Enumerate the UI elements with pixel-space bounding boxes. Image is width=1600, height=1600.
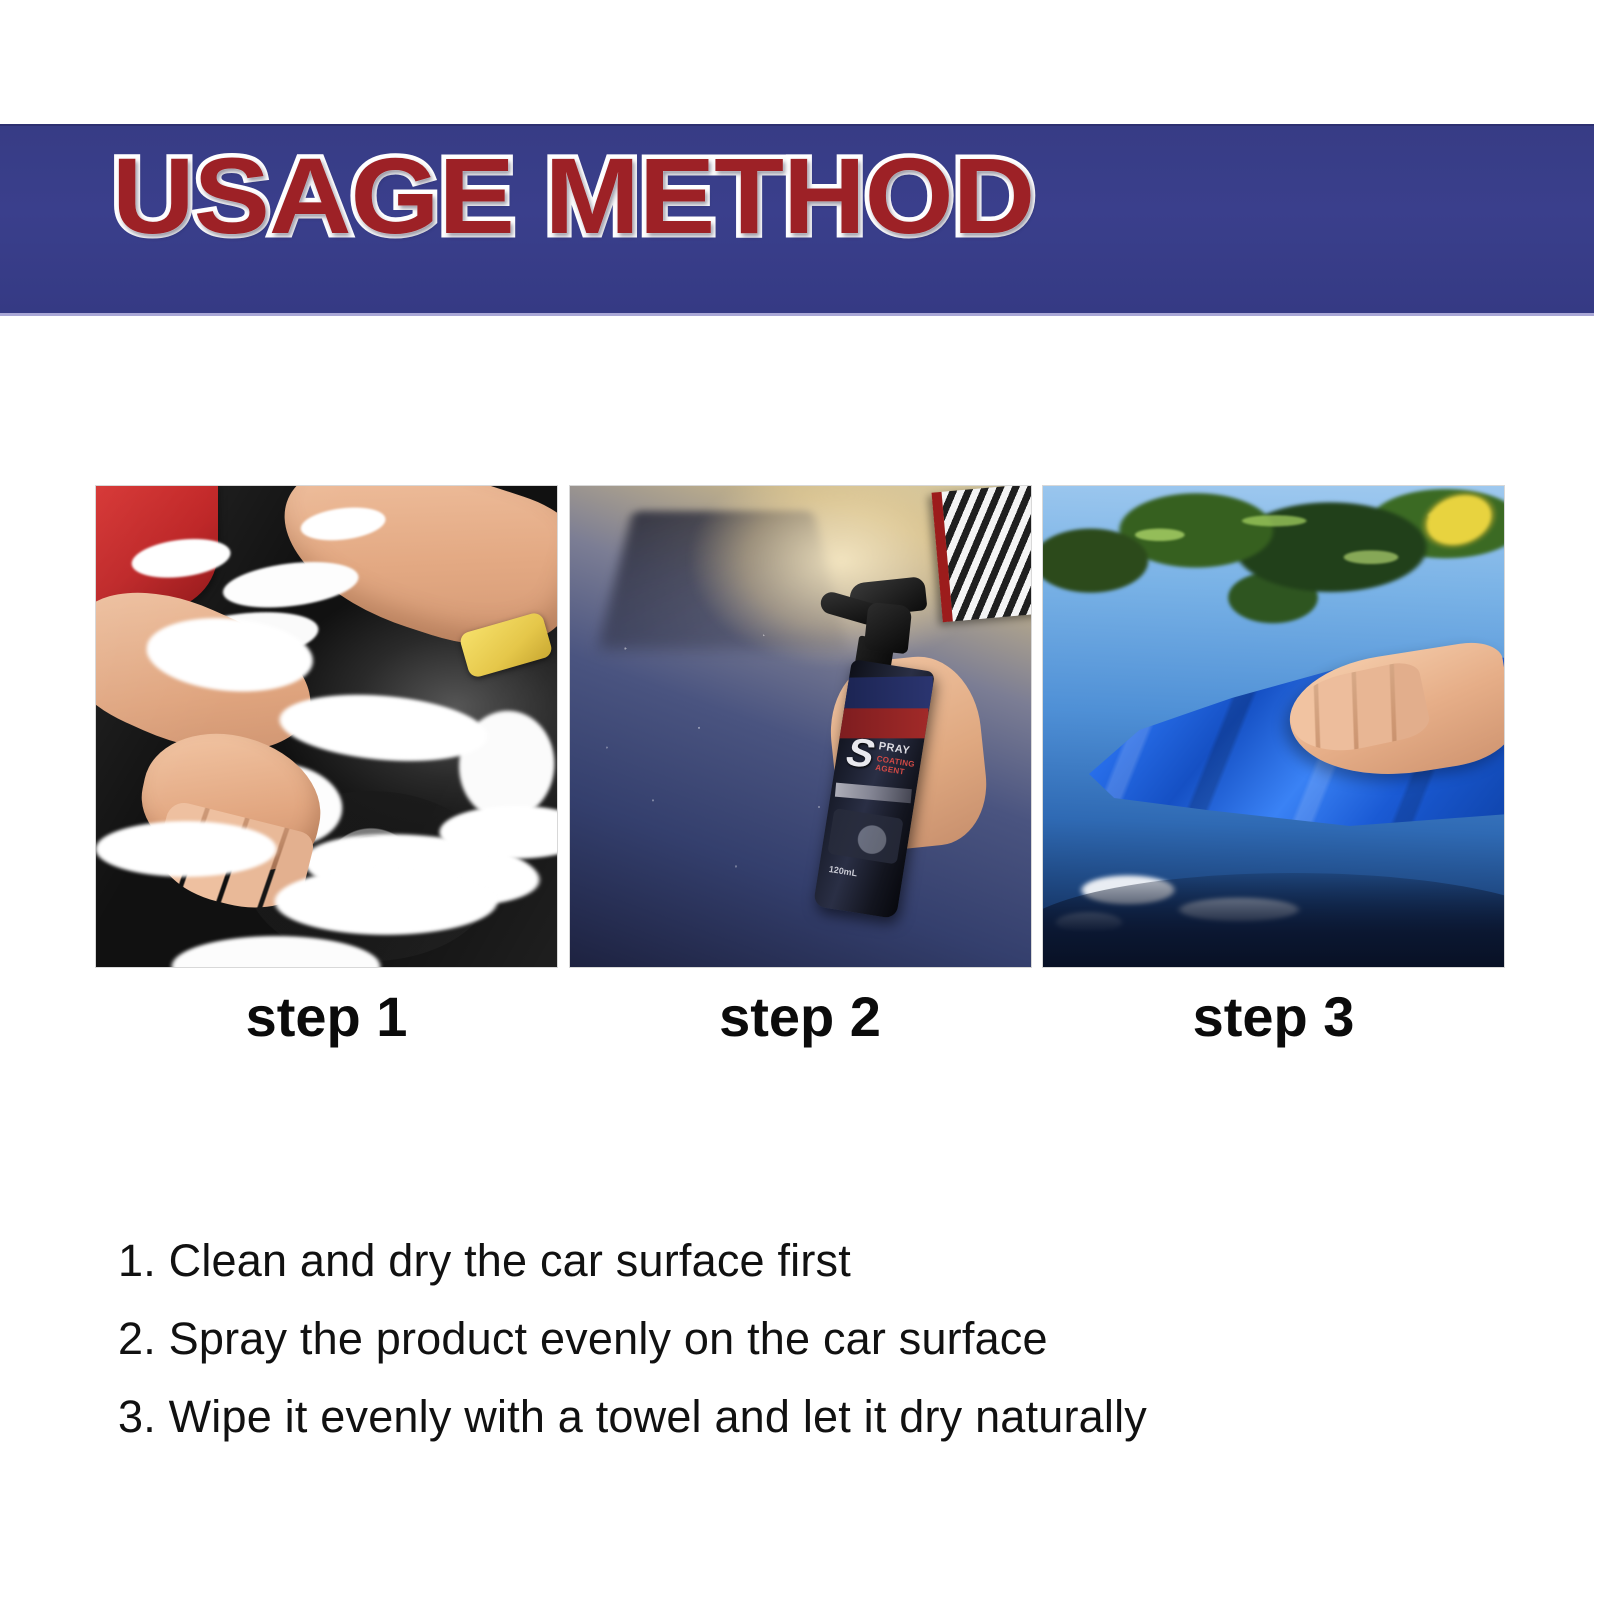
step-image-1 [95,485,558,968]
step-images-row: S PRAY COATING AGENT 120mL [95,485,1505,968]
step-image-2: S PRAY COATING AGENT 120mL [569,485,1032,968]
step-caption-2: step 2 [569,986,1032,1048]
step-caption-3: step 3 [1042,986,1505,1048]
spray-trigger-head [820,578,924,654]
bottle-brand-initial: S [840,732,880,775]
instruction-item-3: 3. Wipe it evenly with a towel and let i… [118,1394,1478,1439]
step-image-3 [1042,485,1505,968]
label-graphic [827,808,903,864]
label-band [834,783,911,804]
trigger-body [863,602,912,654]
instruction-item-1: 1. Clean and dry the car surface first [118,1238,1478,1283]
panel-gloss-overlay [96,486,557,967]
step-caption-1: step 1 [95,986,558,1048]
spray-bottle-illustration: S PRAY COATING AGENT 120mL [570,486,1031,967]
car-grille [931,486,1030,622]
header-banner: USAGE METHOD [0,124,1594,316]
instruction-item-2: 2. Spray the product evenly on the car s… [118,1316,1478,1361]
bottle-volume: 120mL [828,864,858,878]
label-stripe-navy [840,676,933,712]
instruction-list: 1. Clean and dry the car surface first 2… [118,1238,1478,1472]
step-captions-row: step 1 step 2 step 3 [95,986,1505,1048]
page-title: USAGE METHOD [112,142,1034,250]
car-wash-foam-illustration [96,486,557,967]
bottle-tagline: COATING AGENT [874,754,920,779]
towel-wipe-illustration [1043,486,1504,967]
